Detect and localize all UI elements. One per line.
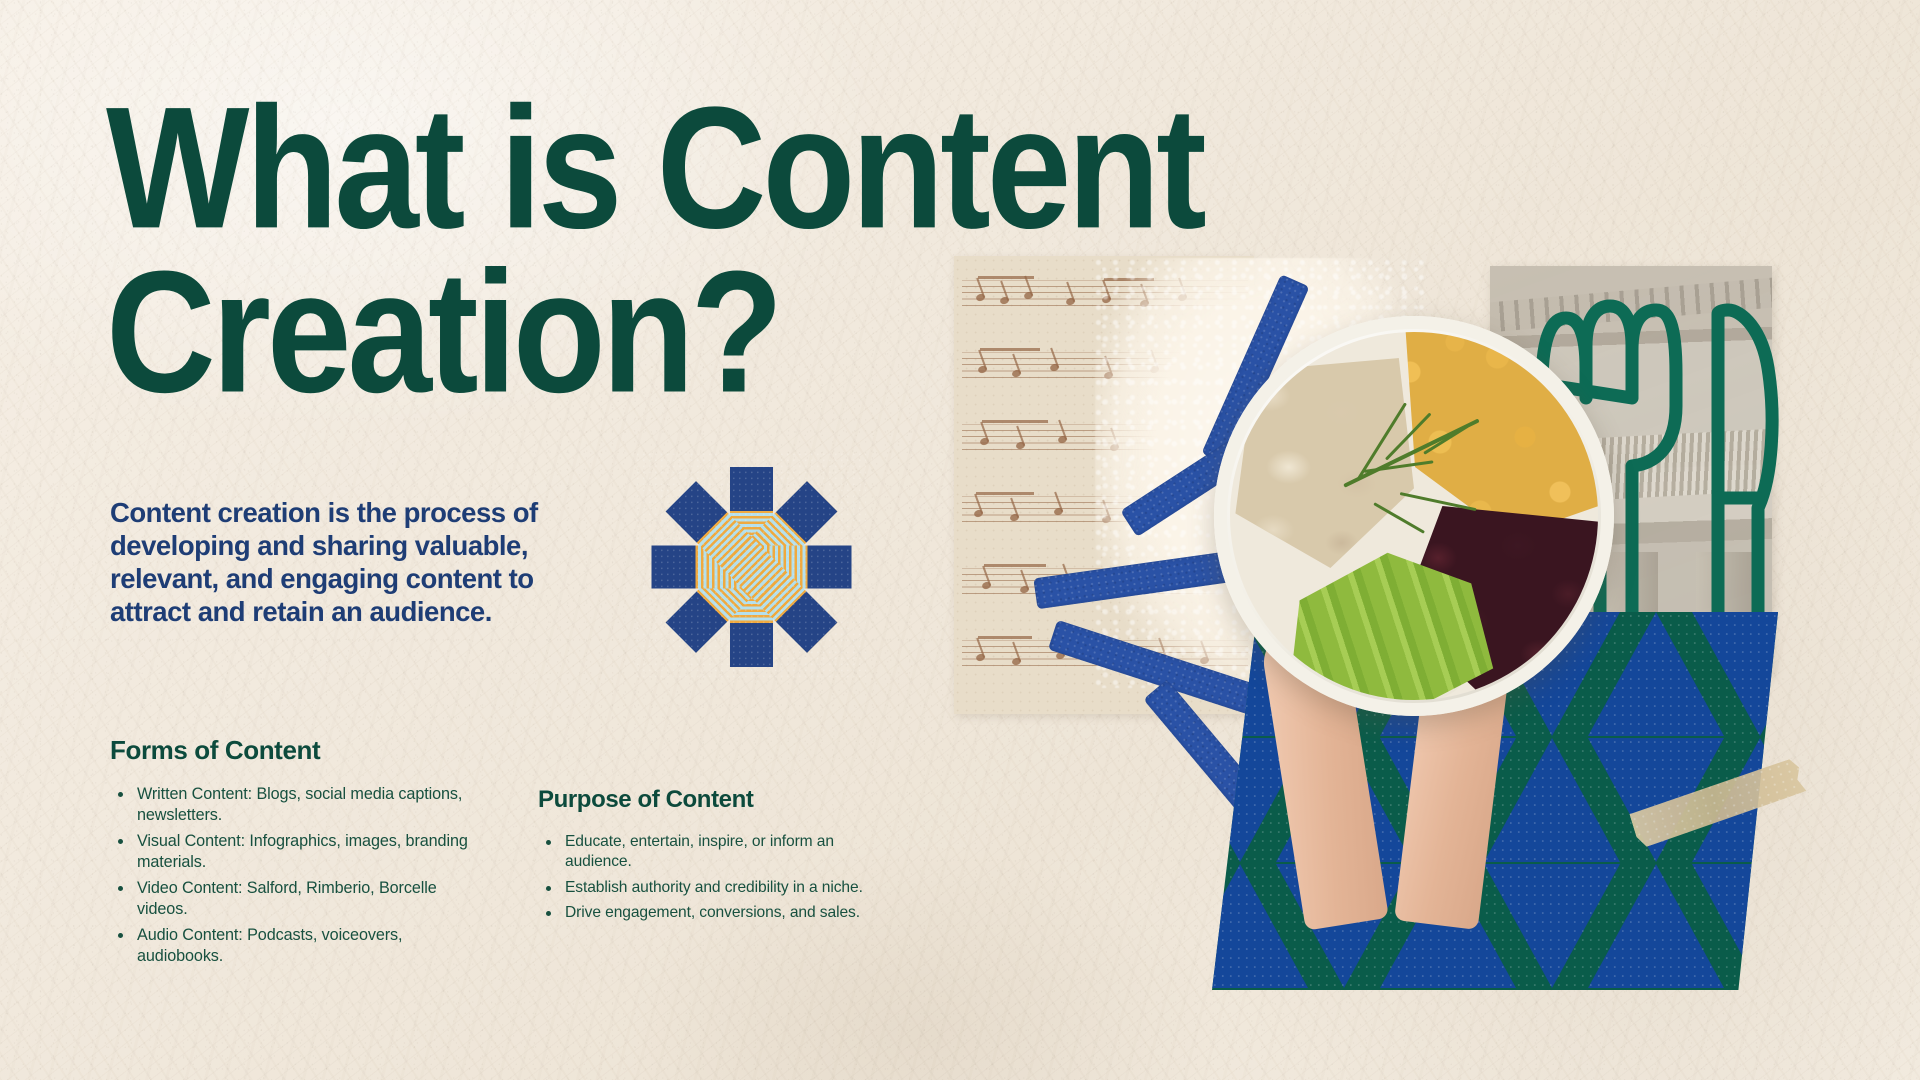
list-item: Visual Content: Infographics, images, br… [110,831,490,873]
list-item: Video Content: Salford, Rimberio, Borcel… [110,878,490,920]
purpose-heading: Purpose of Content [538,786,868,814]
list-item: Drive engagement, conversions, and sales… [538,903,868,923]
forms-heading: Forms of Content [110,735,490,766]
list-item: Educate, entertain, inspire, or inform a… [538,832,868,873]
collage-artwork [940,0,1920,1080]
rosemary-sprig [1334,418,1504,548]
asterisk-starburst-icon [636,452,866,682]
list-item: Establish authority and credibility in a… [538,878,868,898]
purpose-of-content-section: Purpose of Content Educate, entertain, i… [538,786,868,928]
buddha-bowl [1214,316,1614,716]
intro-paragraph: Content creation is the process of devel… [110,496,570,628]
list-item: Written Content: Blogs, social media cap… [110,784,490,826]
list-item: Audio Content: Podcasts, voiceovers, aud… [110,925,490,967]
purpose-list: Educate, entertain, inspire, or inform a… [538,832,868,923]
forms-list: Written Content: Blogs, social media cap… [110,784,490,968]
forms-of-content-section: Forms of Content Written Content: Blogs,… [110,735,490,973]
